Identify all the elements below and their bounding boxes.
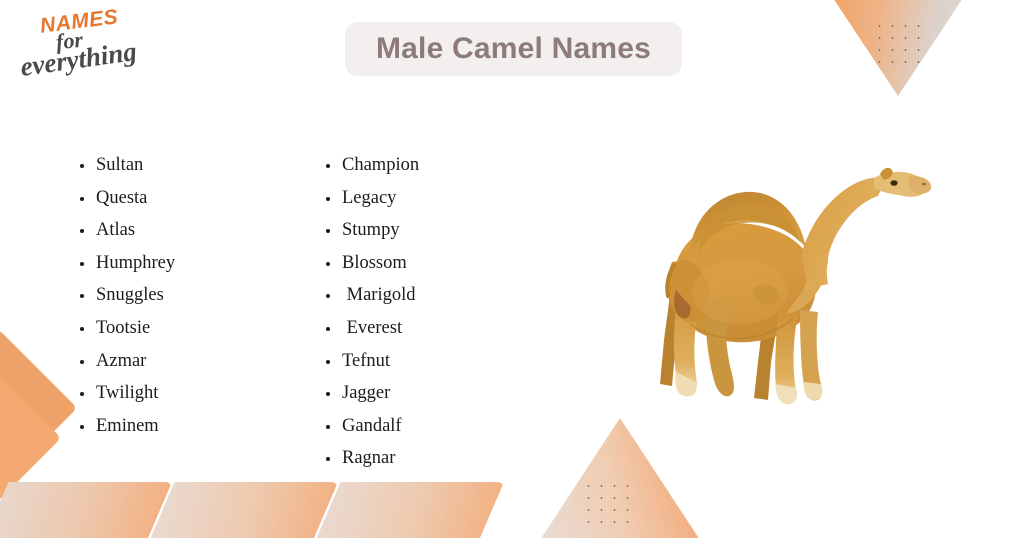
list-item: Blossom xyxy=(322,252,419,274)
list-item: Everest xyxy=(322,317,419,339)
list-item: Marigold xyxy=(322,284,419,306)
list-item: Tefnut xyxy=(322,350,419,372)
list-item: Azmar xyxy=(76,350,175,372)
list-item: Humphrey xyxy=(76,252,175,274)
site-logo[interactable]: NAMES for everything xyxy=(18,6,158,80)
list-item: Gandalf xyxy=(322,415,419,437)
list-item: Jagger xyxy=(322,382,419,404)
list-item: Sultan xyxy=(76,154,175,176)
decor-band-3 xyxy=(314,482,504,538)
list-item: Ragnar xyxy=(322,447,419,469)
decor-band-2 xyxy=(148,482,338,538)
dot-pattern xyxy=(873,20,927,68)
page-title-pill: Male Camel Names xyxy=(345,22,682,76)
list-item: Legacy xyxy=(322,187,419,209)
list-item: Atlas xyxy=(76,219,175,241)
list-item: Twilight xyxy=(76,382,175,404)
list-item: Snuggles xyxy=(76,284,175,306)
list-item: Stumpy xyxy=(322,219,419,241)
camel-icon xyxy=(628,162,938,407)
decor-triangle-bottom-center xyxy=(540,418,700,538)
logo-word-everything: everything xyxy=(18,36,138,83)
camel-photo xyxy=(628,162,938,407)
name-list-left: Sultan Questa Atlas Humphrey Snuggles To… xyxy=(76,154,175,447)
page-title: Male Camel Names xyxy=(376,32,651,66)
list-item: Champion xyxy=(322,154,419,176)
list-item: Tootsie xyxy=(76,317,175,339)
list-item: Questa xyxy=(76,187,175,209)
list-item: Eminem xyxy=(76,415,175,437)
dot-pattern xyxy=(582,480,634,524)
poster-canvas: NAMES for everything Male Camel Names Su… xyxy=(0,0,1024,538)
decor-band-1 xyxy=(0,482,172,538)
decor-triangle-top-right xyxy=(833,0,963,96)
name-list-right: Champion Legacy Stumpy Blossom Marigold … xyxy=(322,154,419,480)
